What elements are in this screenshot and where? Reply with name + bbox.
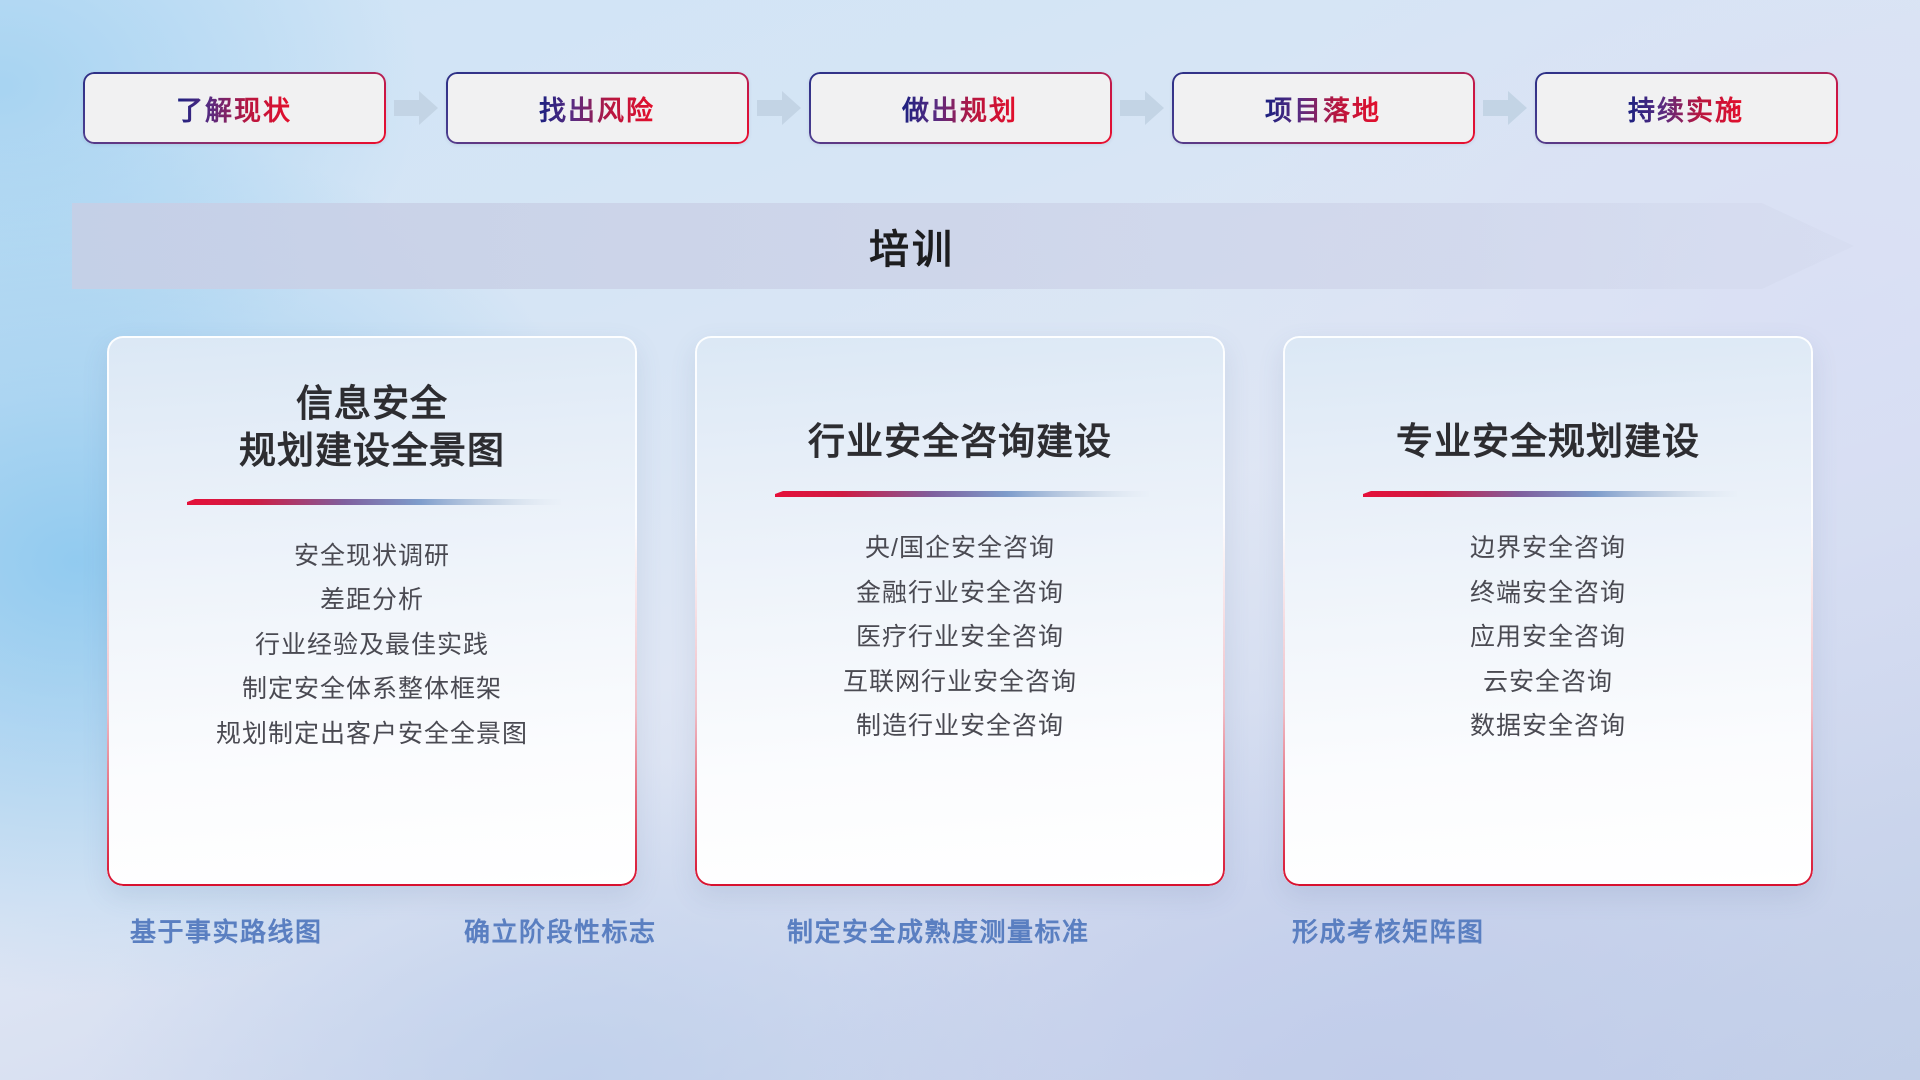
card-industry-security-consulting[interactable]: 行业安全咨询建设: [695, 336, 1225, 886]
list-item: 差距分析: [320, 585, 424, 616]
list-item: 医疗行业安全咨询: [856, 622, 1064, 653]
step-box-3[interactable]: 做出规划: [809, 72, 1112, 144]
list-item: 行业经验及最佳实践: [255, 630, 489, 661]
card-divider: [183, 499, 561, 511]
card-professional-security-planning[interactable]: 专业安全规划建设: [1283, 336, 1813, 886]
list-item: 安全现状调研: [294, 541, 450, 572]
training-banner: 培训: [72, 203, 1854, 289]
step-label: 找出风险: [539, 89, 655, 128]
list-item: 数据安全咨询: [1470, 711, 1626, 742]
card-title-line: 专业安全规划建设: [1396, 418, 1700, 465]
card-divider: [771, 491, 1149, 503]
card-title-line: 行业安全咨询建设: [808, 418, 1112, 465]
list-item: 央/国企安全咨询: [865, 533, 1055, 564]
list-item: 终端安全咨询: [1470, 578, 1626, 609]
step-label: 了解现状: [176, 89, 292, 128]
caption-row: 基于事实路线图 确立阶段性标志 制定安全成熟度测量标准 形成考核矩阵图: [0, 912, 1920, 956]
arrow-right-icon: [1475, 72, 1535, 144]
step-label: 持续实施: [1628, 89, 1744, 128]
card-title-line: 信息安全: [239, 380, 505, 427]
caption-review-matrix: 形成考核矩阵图: [1292, 912, 1485, 949]
caption-milestones: 确立阶段性标志: [464, 912, 657, 949]
list-item: 边界安全咨询: [1470, 533, 1626, 564]
step-box-4[interactable]: 项目落地: [1172, 72, 1475, 144]
process-steps: 了解现状 找出风险 做出规划 项目落地 持续实施: [0, 72, 1920, 144]
card-title-line: 规划建设全景图: [239, 427, 505, 474]
card-title: 行业安全咨询建设: [808, 380, 1112, 465]
step-box-1[interactable]: 了解现状: [83, 72, 386, 144]
card-divider: [1359, 491, 1737, 503]
card-information-security-blueprint[interactable]: 信息安全 规划建设全景图: [107, 336, 637, 886]
step-label: 做出规划: [902, 89, 1018, 128]
card-row: 信息安全 规划建设全景图: [0, 336, 1920, 886]
step-label: 项目落地: [1265, 89, 1381, 128]
list-item: 制造行业安全咨询: [856, 711, 1064, 742]
card-title: 专业安全规划建设: [1396, 380, 1700, 465]
list-item: 金融行业安全咨询: [856, 578, 1064, 609]
list-item: 互联网行业安全咨询: [843, 667, 1077, 698]
list-item: 应用安全咨询: [1470, 622, 1626, 653]
banner-title: 培训: [72, 203, 1752, 289]
arrow-right-icon: [386, 72, 446, 144]
list-item: 制定安全体系整体框架: [242, 674, 502, 705]
card-title: 信息安全 规划建设全景图: [239, 380, 505, 475]
step-box-5[interactable]: 持续实施: [1535, 72, 1838, 144]
caption-maturity-scale: 制定安全成熟度测量标准: [787, 912, 1090, 949]
card-list: 安全现状调研 差距分析 行业经验及最佳实践 制定安全体系整体框架 规划制定出客户…: [216, 541, 528, 750]
caption-roadmap: 基于事实路线图: [130, 912, 323, 949]
card-list: 央/国企安全咨询 金融行业安全咨询 医疗行业安全咨询 互联网行业安全咨询 制造行…: [843, 533, 1077, 742]
arrow-right-icon: [1112, 72, 1172, 144]
step-box-2[interactable]: 找出风险: [446, 72, 749, 144]
list-item: 规划制定出客户安全全景图: [216, 719, 528, 750]
arrow-right-icon: [749, 72, 809, 144]
list-item: 云安全咨询: [1483, 667, 1613, 698]
card-list: 边界安全咨询 终端安全咨询 应用安全咨询 云安全咨询 数据安全咨询: [1470, 533, 1626, 742]
